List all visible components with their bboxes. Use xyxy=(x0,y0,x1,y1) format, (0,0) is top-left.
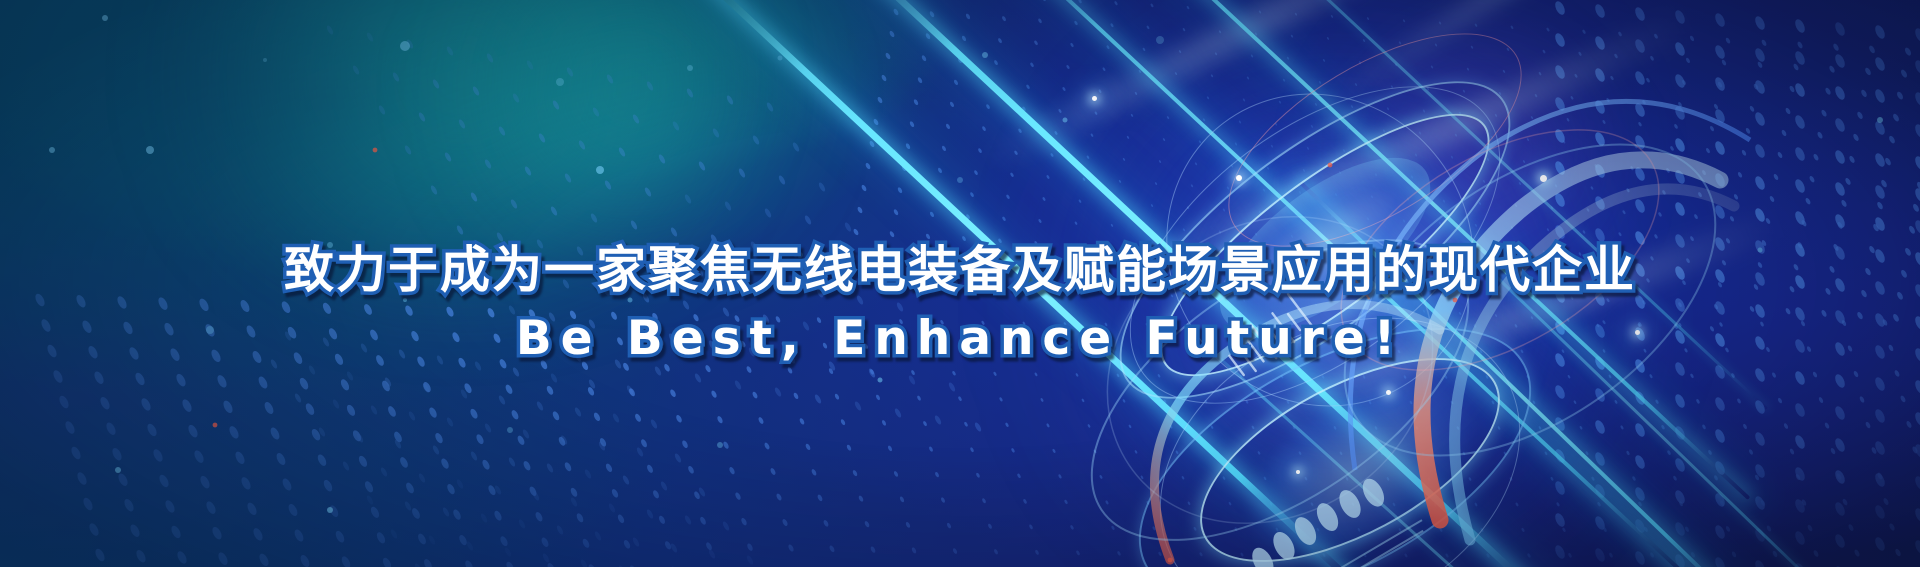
hero-banner: 致力于成为一家聚焦无线电装备及赋能场景应用的现代企业 Be Best, Enha… xyxy=(0,0,1920,567)
headline-block: 致力于成为一家聚焦无线电装备及赋能场景应用的现代企业 Be Best, Enha… xyxy=(0,236,1920,370)
headline-english: Be Best, Enhance Future! xyxy=(0,308,1920,370)
headline-chinese: 致力于成为一家聚焦无线电装备及赋能场景应用的现代企业 xyxy=(0,236,1920,304)
